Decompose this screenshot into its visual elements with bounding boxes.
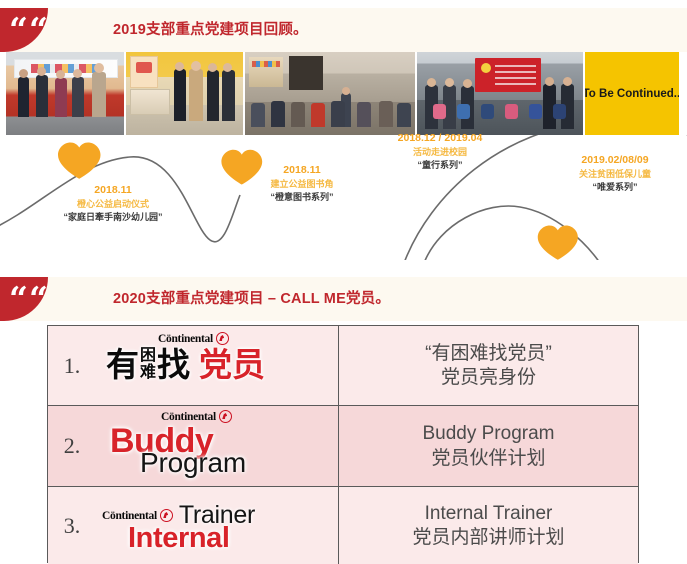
child: [331, 101, 345, 127]
continental-wordmark: Cöntinental: [158, 333, 213, 345]
photo-group-backpacks: [417, 52, 583, 135]
person-head: [37, 67, 46, 76]
table-row: 3. Cöntinental Trainer Internal Internal…: [48, 486, 638, 564]
person-head: [342, 87, 350, 95]
heart-marker-icon: [58, 142, 101, 178]
to-be-continued-label: To Be Continued...: [585, 52, 679, 135]
slogan-artwork-3: Cöntinental Trainer Internal: [96, 487, 338, 564]
slogan-stacked-chars: 困 难: [140, 348, 156, 381]
continental-horse-icon: [219, 410, 232, 423]
table-cell-logo: 2. Cöntinental Buddy Program: [48, 406, 339, 486]
slogan-highlight: 党员: [199, 348, 265, 381]
person-head: [175, 62, 184, 71]
timeline-event-date: 2018.11: [222, 163, 382, 178]
photo-award-ceremony: [6, 52, 124, 135]
person: [189, 69, 203, 121]
timeline-event-date: 2018.11: [18, 183, 208, 198]
continental-horse-icon: [216, 332, 229, 345]
person-head: [427, 78, 436, 87]
book-display: [130, 89, 170, 115]
person-head: [563, 77, 572, 86]
slogan-artwork-2: Cöntinental Buddy Program: [96, 406, 338, 486]
child: [357, 102, 371, 127]
person: [36, 75, 48, 117]
to-be-continued-panel: To Be Continued...: [585, 52, 679, 135]
continental-logo: Cöntinental: [102, 509, 173, 522]
table-cell-description: Buddy Program 党员伙伴计划: [339, 406, 638, 486]
timeline-event-subtitle: 关注贫困低保儿童: [540, 168, 687, 181]
timeline-event-subtitle: 橙心公益启动仪式: [18, 198, 208, 211]
slogan-text: 有 困 难 找 党员: [106, 348, 265, 381]
person: [92, 72, 106, 117]
child: [291, 102, 305, 127]
book-rack: [249, 57, 283, 87]
child: [271, 101, 285, 127]
person: [207, 70, 219, 121]
person-head: [191, 61, 201, 71]
wall-poster: [130, 56, 158, 88]
backpack: [457, 104, 470, 119]
row-number: 2.: [48, 433, 96, 459]
person-head: [94, 63, 104, 73]
description-line-2: 党员亮身份: [441, 366, 536, 389]
quote-mark-icon: ““: [9, 10, 49, 50]
slogan-secondary: Program: [140, 449, 246, 477]
slogan-stack-top: 困: [140, 348, 156, 364]
backpack: [433, 104, 446, 119]
timeline-event-quote: “唯爱系列”: [540, 181, 687, 194]
timeline-event-4: 2019.02/08/09 关注贫困低保儿童 “唯爱系列”: [540, 153, 687, 193]
person-head: [545, 77, 554, 86]
timeline-event-3: 2018.12 / 2019.04 活动走进校园 “童行系列”: [360, 131, 520, 171]
quote-badge: ““: [0, 277, 48, 321]
description-line-2: 党员伙伴计划: [431, 447, 545, 470]
person-head: [73, 69, 82, 78]
slogan-char-2: 找: [157, 348, 190, 381]
table-cell-description: Internal Trainer 党员内部讲师计划: [339, 487, 638, 564]
backpack: [481, 104, 494, 119]
slogan-stack-bottom: 难: [140, 365, 156, 381]
section-banner-2019: ““ 2019支部重点党建项目回顾。: [0, 8, 687, 52]
row-number: 3.: [48, 513, 96, 539]
description-line-1: “有困难找党员”: [425, 342, 552, 365]
backpack: [529, 104, 542, 119]
timeline: 2018.11 橙心公益启动仪式 “家庭日牽手南沙幼儿园” 2018.11 建立…: [0, 135, 687, 260]
photo-strip: To Be Continued...: [6, 52, 679, 135]
timeline-event-subtitle: 活动走进校园: [360, 146, 520, 159]
photo-classroom-children: [245, 52, 415, 135]
timeline-event-date: 2019.02/08/09: [540, 153, 687, 168]
table-row: 2. Cöntinental Buddy Program Buddy Progr…: [48, 405, 638, 486]
heart-marker-icon: [538, 226, 578, 260]
slogan-char-1: 有: [106, 348, 139, 381]
section-title-2019: 2019支部重点党建项目回顾。: [113, 8, 308, 52]
party-banner: [475, 58, 541, 92]
person: [222, 70, 235, 121]
person-head: [56, 70, 65, 79]
table-cell-description: “有困难找党员” 党员亮身份: [339, 326, 638, 405]
timeline-event-quote: “童行系列”: [360, 159, 520, 172]
child: [311, 103, 325, 127]
child: [397, 103, 411, 127]
timeline-event-2: 2018.11 建立公益图书角 “橙意图书系列”: [222, 163, 382, 203]
person-head: [208, 63, 217, 72]
continental-wordmark: Cöntinental: [161, 411, 216, 423]
person-head: [19, 69, 28, 78]
continental-wordmark: Cöntinental: [102, 510, 157, 522]
timeline-event-quote: “橙意图书系列”: [222, 191, 382, 204]
person: [55, 78, 67, 117]
dark-cabinet: [289, 56, 323, 90]
table-cell-logo: 1. Cöntinental 有 困 难 找 党员: [48, 326, 339, 405]
project-table: 1. Cöntinental 有 困 难 找 党员 “有困难找党员”: [47, 325, 639, 563]
table-cell-logo: 3. Cöntinental Trainer Internal: [48, 487, 339, 564]
section-title-2020: 2020支部重点党建项目 – CALL ME党员。: [113, 277, 390, 321]
person-head: [445, 78, 454, 87]
person: [18, 77, 29, 117]
quote-badge: ““: [0, 8, 48, 52]
timeline-event-1: 2018.11 橙心公益启动仪式 “家庭日牽手南沙幼儿园”: [18, 183, 208, 223]
description-line-2: 党员内部讲师计划: [412, 526, 564, 549]
child: [251, 103, 265, 127]
person-head: [223, 63, 232, 72]
table-row: 1. Cöntinental 有 困 难 找 党员 “有困难找党员”: [48, 326, 638, 405]
continental-logo: Cöntinental: [158, 332, 229, 345]
description-line-1: Internal Trainer: [425, 502, 553, 525]
row-number: 1.: [48, 353, 96, 379]
person: [174, 69, 186, 121]
photo-book-donation: [126, 52, 243, 135]
timeline-event-date: 2018.12 / 2019.04: [360, 131, 520, 146]
backpack: [505, 104, 518, 119]
slogan-highlight: Internal: [128, 524, 230, 553]
slogan-artwork-1: Cöntinental 有 困 难 找 党员: [96, 326, 338, 405]
backpack: [553, 104, 566, 119]
child: [379, 101, 393, 127]
timeline-event-quote: “家庭日牽手南沙幼儿园”: [18, 211, 208, 224]
continental-horse-icon: [160, 509, 173, 522]
person-head: [463, 79, 472, 88]
person: [72, 77, 84, 117]
timeline-event-subtitle: 建立公益图书角: [222, 178, 382, 191]
section-banner-2020: ““ 2020支部重点党建项目 – CALL ME党员。: [0, 277, 687, 321]
quote-mark-icon: ““: [9, 279, 49, 319]
description-line-1: Buddy Program: [422, 422, 554, 445]
